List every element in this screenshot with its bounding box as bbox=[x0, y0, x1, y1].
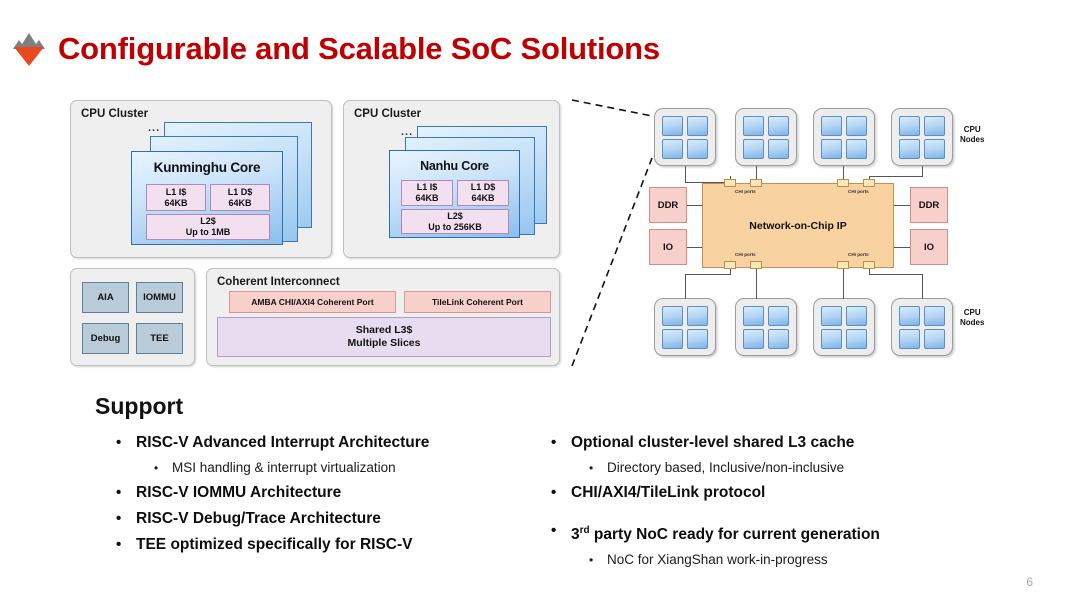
cpu-node-bottom-1 bbox=[654, 298, 716, 356]
cache-size: Up to 256KB bbox=[428, 222, 482, 233]
cpu-node-top-4 bbox=[891, 108, 953, 166]
l3-title: Shared L3$ bbox=[356, 324, 413, 337]
chi-port bbox=[837, 179, 849, 187]
cache-l2: L2$ Up to 256KB bbox=[401, 209, 509, 234]
cache-name: L1 D$ bbox=[228, 187, 253, 198]
service-label: IOMMU bbox=[143, 292, 176, 303]
ddr-wire bbox=[893, 205, 910, 206]
support-heading: Support bbox=[95, 393, 183, 420]
ddr-box-left: DDR bbox=[649, 187, 687, 223]
node-wire bbox=[869, 176, 922, 177]
bullet-item-ordinal: 3rd party NoC ready for current generati… bbox=[545, 518, 995, 548]
chi-port bbox=[750, 261, 762, 269]
cpu-node-bottom-2 bbox=[735, 298, 797, 356]
chi-ports-label: CHI ports bbox=[735, 189, 756, 194]
core-tile-icon bbox=[768, 329, 789, 349]
bullet-item: RISC-V IOMMU Architecture bbox=[110, 480, 540, 506]
cache-name: L2$ bbox=[200, 216, 216, 227]
node-wire bbox=[869, 274, 922, 275]
cache-size: 64KB bbox=[415, 193, 438, 204]
io-box-left: IO bbox=[649, 229, 687, 265]
core-tile-icon bbox=[821, 116, 842, 136]
mem-label: IO bbox=[663, 242, 673, 253]
core-tile-icon bbox=[768, 306, 789, 326]
service-box-tee: TEE bbox=[136, 323, 183, 354]
node-wire bbox=[685, 166, 686, 183]
cache-l1d: L1 D$ 64KB bbox=[210, 184, 270, 211]
bullet-item: TEE optimized specifically for RISC-V bbox=[110, 532, 540, 558]
cache-l2: L2$ Up to 1MB bbox=[146, 214, 270, 240]
cpu-nodes-label-bottom: CPU Nodes bbox=[960, 308, 984, 328]
label-line-1: CPU bbox=[960, 308, 984, 318]
node-wire bbox=[843, 266, 844, 299]
shared-l3-cache-box: Shared L3$ Multiple Slices bbox=[217, 317, 551, 357]
core-tile-icon bbox=[846, 329, 867, 349]
cache-size: 64KB bbox=[228, 198, 251, 209]
core-tile-icon bbox=[687, 329, 708, 349]
core-tile-icon bbox=[662, 139, 683, 159]
chi-port bbox=[863, 261, 875, 269]
core-tile-icon bbox=[821, 329, 842, 349]
core-name: Kunminghu Core bbox=[132, 160, 282, 175]
ddr-wire bbox=[687, 205, 703, 206]
port-box-tilelink: TileLink Coherent Port bbox=[404, 291, 551, 313]
io-wire bbox=[687, 247, 703, 248]
core-tile-icon bbox=[687, 116, 708, 136]
ordinal-suffix: rd bbox=[580, 525, 590, 536]
cache-name: L1 D$ bbox=[471, 182, 496, 193]
service-box-aia: AIA bbox=[82, 282, 129, 313]
io-box-right: IO bbox=[910, 229, 948, 265]
ordinal-number: 3 bbox=[571, 526, 580, 543]
soc-architecture-diagram: CPU Cluster ... Kunminghu Core L1 I$ 64K… bbox=[70, 100, 570, 375]
service-box-iommu: IOMMU bbox=[136, 282, 183, 313]
service-label: Debug bbox=[91, 333, 121, 344]
core-tile-icon bbox=[743, 329, 764, 349]
bullet-item: Optional cluster-level shared L3 cache bbox=[545, 430, 995, 456]
core-tile-icon bbox=[821, 139, 842, 159]
cache-name: L1 I$ bbox=[417, 182, 438, 193]
node-wire bbox=[922, 274, 923, 299]
bullet-item: NoC for XiangShan work-in-progress bbox=[545, 548, 995, 572]
io-wire bbox=[893, 247, 910, 248]
bullet-item: Directory based, Inclusive/non-inclusive bbox=[545, 456, 995, 480]
node-wire bbox=[685, 274, 730, 275]
cache-size: 64KB bbox=[471, 193, 494, 204]
coherent-interconnect-panel: Coherent Interconnect AMBA CHI/AXI4 Cohe… bbox=[206, 268, 560, 366]
cpu-node-bottom-4 bbox=[891, 298, 953, 356]
core-tile-icon bbox=[846, 116, 867, 136]
core-tile-icon bbox=[846, 306, 867, 326]
core-name: Nanhu Core bbox=[390, 159, 519, 173]
core-card-front: Nanhu Core L1 I$ 64KB L1 D$ 64KB L2$ Up … bbox=[389, 150, 520, 238]
support-bullets-right: Optional cluster-level shared L3 cache D… bbox=[545, 430, 995, 572]
cache-name: L1 I$ bbox=[166, 187, 187, 198]
support-bullets-left: RISC-V Advanced Interrupt Architecture M… bbox=[110, 430, 540, 558]
cpu-node-top-2 bbox=[735, 108, 797, 166]
mountain-logo-icon bbox=[12, 30, 46, 68]
port-label: AMBA CHI/AXI4 Coherent Port bbox=[251, 297, 373, 307]
label-line-1: CPU bbox=[960, 125, 984, 135]
core-tile-icon bbox=[662, 306, 683, 326]
cluster-title: CPU Cluster bbox=[354, 108, 421, 120]
cpu-nodes-label-top: CPU Nodes bbox=[960, 125, 984, 145]
mem-label: DDR bbox=[919, 200, 940, 211]
cluster-ellipsis: ... bbox=[148, 125, 160, 131]
platform-services-panel: AIA IOMMU Debug TEE bbox=[70, 268, 195, 366]
core-tile-icon bbox=[662, 329, 683, 349]
label-line-2: Nodes bbox=[960, 135, 984, 145]
chi-port bbox=[863, 179, 875, 187]
chi-port bbox=[750, 179, 762, 187]
page-number: 6 bbox=[1026, 575, 1033, 589]
l3-subtitle: Multiple Slices bbox=[348, 337, 421, 350]
core-tile-icon bbox=[662, 116, 683, 136]
slide-title-bar: Configurable and Scalable SoC Solutions bbox=[12, 30, 660, 68]
core-tile-icon bbox=[768, 139, 789, 159]
service-label: AIA bbox=[97, 292, 113, 303]
cache-l1i: L1 I$ 64KB bbox=[401, 180, 453, 206]
cluster-title: CPU Cluster bbox=[81, 108, 148, 120]
cpu-node-top-1 bbox=[654, 108, 716, 166]
mem-label: IO bbox=[924, 242, 934, 253]
service-box-debug: Debug bbox=[82, 323, 129, 354]
mem-label: DDR bbox=[658, 200, 679, 211]
bullet-item: RISC-V Advanced Interrupt Architecture bbox=[110, 430, 540, 456]
core-tile-icon bbox=[687, 139, 708, 159]
core-tile-icon bbox=[899, 116, 920, 136]
chi-ports-label: CHI ports bbox=[848, 252, 869, 257]
core-tile-icon bbox=[924, 329, 945, 349]
core-tile-icon bbox=[924, 116, 945, 136]
ddr-box-right: DDR bbox=[910, 187, 948, 223]
core-card-front: Kunminghu Core L1 I$ 64KB L1 D$ 64KB L2$… bbox=[131, 151, 283, 245]
cache-name: L2$ bbox=[447, 211, 463, 222]
cache-l1i: L1 I$ 64KB bbox=[146, 184, 206, 211]
core-tile-icon bbox=[743, 306, 764, 326]
core-tile-icon bbox=[743, 116, 764, 136]
core-tile-icon bbox=[743, 139, 764, 159]
cache-size: 64KB bbox=[164, 198, 187, 209]
interconnect-title: Coherent Interconnect bbox=[217, 276, 340, 288]
cluster-ellipsis: ... bbox=[401, 129, 413, 135]
core-tile-icon bbox=[687, 306, 708, 326]
core-tile-icon bbox=[924, 139, 945, 159]
core-tile-icon bbox=[899, 306, 920, 326]
noc-label: Network-on-Chip IP bbox=[749, 220, 846, 232]
bullet-item: CHI/AXI4/TileLink protocol bbox=[545, 480, 995, 506]
bullet-item: RISC-V Debug/Trace Architecture bbox=[110, 506, 540, 532]
core-tile-icon bbox=[768, 116, 789, 136]
ordinal-rest: party NoC ready for current generation bbox=[590, 526, 880, 543]
cache-l1d: L1 D$ 64KB bbox=[457, 180, 509, 206]
core-tile-icon bbox=[924, 306, 945, 326]
page-title: Configurable and Scalable SoC Solutions bbox=[58, 31, 660, 67]
node-wire bbox=[685, 274, 686, 299]
port-box-amba-chi-axi4: AMBA CHI/AXI4 Coherent Port bbox=[229, 291, 396, 313]
cpu-node-top-3 bbox=[813, 108, 875, 166]
chi-port bbox=[724, 179, 736, 187]
bullet-item: MSI handling & interrupt virtualization bbox=[110, 456, 540, 480]
chi-ports-label: CHI ports bbox=[735, 252, 756, 257]
chi-port bbox=[837, 261, 849, 269]
node-wire bbox=[922, 166, 923, 177]
cache-size: Up to 1MB bbox=[186, 227, 231, 238]
core-tile-icon bbox=[821, 306, 842, 326]
service-label: TEE bbox=[150, 333, 168, 344]
cpu-cluster-kunminghu: CPU Cluster ... Kunminghu Core L1 I$ 64K… bbox=[70, 100, 332, 258]
cpu-cluster-nanhu: CPU Cluster ... Nanhu Core L1 I$ 64KB L1… bbox=[343, 100, 560, 258]
label-line-2: Nodes bbox=[960, 318, 984, 328]
port-label: TileLink Coherent Port bbox=[432, 297, 523, 307]
core-tile-icon bbox=[899, 139, 920, 159]
core-tile-icon bbox=[899, 329, 920, 349]
chi-port bbox=[724, 261, 736, 269]
network-on-chip-diagram: Network-on-Chip IP CHI ports CHI ports C… bbox=[630, 100, 1000, 370]
chi-ports-label: CHI ports bbox=[848, 189, 869, 194]
core-tile-icon bbox=[846, 139, 867, 159]
node-wire bbox=[756, 266, 757, 299]
cpu-node-bottom-3 bbox=[813, 298, 875, 356]
